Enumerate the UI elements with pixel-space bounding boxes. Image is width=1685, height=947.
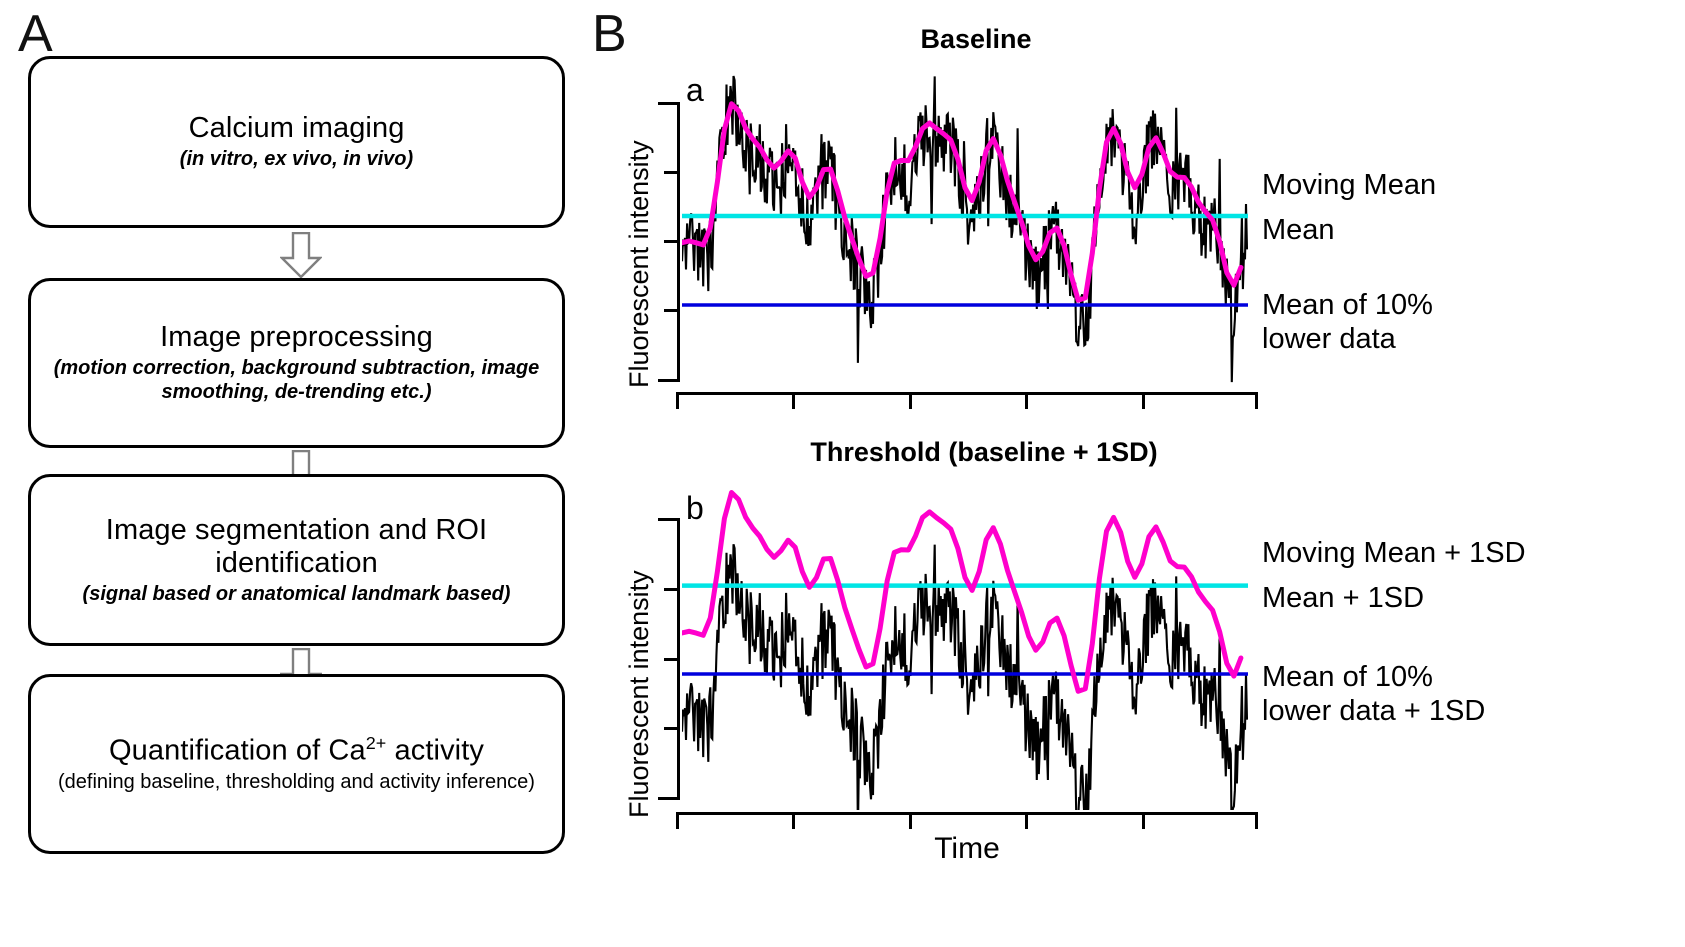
flow-step-image-segmentation-roi[interactable]: Image segmentation and ROI identificatio… bbox=[28, 474, 565, 646]
y-axis-tick bbox=[664, 171, 680, 174]
flow-step-subtitle: (motion correction, background subtracti… bbox=[45, 357, 548, 404]
legend-label-moving-mean-1sd: Moving Mean + 1SD bbox=[1262, 536, 1526, 570]
x-axis-spine bbox=[676, 812, 1258, 815]
y-axis-label: Fluorescent intensity bbox=[624, 140, 655, 388]
flow-step-subtitle: (signal based or anatomical landmark bas… bbox=[83, 583, 511, 607]
y-axis-b bbox=[658, 518, 680, 800]
flow-step-title-superscript: 2+ bbox=[366, 733, 387, 753]
y-axis-label: Fluorescent intensity bbox=[624, 570, 655, 818]
flow-step-quantification-ca-activity[interactable]: Quantification of Ca2+ activity (definin… bbox=[28, 674, 565, 854]
flow-step-subtitle: (in vitro, ex vivo, in vivo) bbox=[180, 148, 413, 172]
y-axis-tick bbox=[664, 658, 680, 661]
flow-step-title: Calcium imaging bbox=[189, 112, 405, 145]
plot-area-threshold bbox=[682, 470, 1248, 810]
y-axis-tick bbox=[658, 102, 680, 105]
flow-step-title: Image segmentation and ROI identificatio… bbox=[45, 514, 548, 580]
flow-step-title-tail: activity bbox=[386, 735, 484, 767]
flow-step-image-preprocessing[interactable]: Image preprocessing (motion correction, … bbox=[28, 278, 565, 448]
legend-label-mean-of-10-percent-lower-data-1sd: Mean of 10% lower data + 1SD bbox=[1262, 660, 1485, 728]
y-axis-a bbox=[658, 102, 680, 382]
x-axis-tick bbox=[909, 392, 912, 409]
y-axis-tick bbox=[664, 727, 680, 730]
flow-step-title: Quantification of Ca2+ activity bbox=[109, 733, 484, 768]
y-axis-tick bbox=[664, 240, 680, 243]
x-axis-label: Time bbox=[676, 832, 1258, 866]
x-axis-tick bbox=[676, 812, 679, 829]
y-axis-tick bbox=[664, 309, 680, 312]
plot-area-baseline bbox=[682, 48, 1248, 384]
flow-step-subtitle: (defining baseline, thresholding and act… bbox=[58, 771, 535, 795]
legend-label-mean-1sd: Mean + 1SD bbox=[1262, 581, 1424, 615]
x-axis-tick bbox=[792, 812, 795, 829]
x-axis-tick bbox=[792, 392, 795, 409]
flow-step-title-main: Quantification of Ca bbox=[109, 735, 366, 767]
x-axis-tick bbox=[909, 812, 912, 829]
x-axis-tick bbox=[1025, 392, 1028, 409]
x-axis-tick bbox=[1142, 812, 1145, 829]
x-axis-spine bbox=[676, 392, 1258, 395]
x-axis-tick bbox=[1255, 812, 1258, 829]
y-axis-tick bbox=[658, 518, 680, 521]
chart-title-threshold: Threshold (baseline + 1SD) bbox=[704, 437, 1264, 468]
x-axis-tick bbox=[676, 392, 679, 409]
x-axis-a bbox=[676, 392, 1258, 414]
legend-label-moving-mean: Moving Mean bbox=[1262, 168, 1436, 202]
flow-step-calcium-imaging[interactable]: Calcium imaging (in vitro, ex vivo, in v… bbox=[28, 56, 565, 228]
legend-label-mean-of-10-percent-lower-data: Mean of 10% lower data bbox=[1262, 288, 1433, 356]
charts-panel-b: Baseline Fluorescent intensity a Moving … bbox=[586, 0, 1685, 947]
y-axis-tick bbox=[658, 797, 680, 800]
flowchart-panel-a: Calcium imaging (in vitro, ex vivo, in v… bbox=[28, 56, 573, 896]
x-axis-tick bbox=[1142, 392, 1145, 409]
y-axis-tick bbox=[658, 379, 680, 382]
x-axis-b bbox=[676, 812, 1258, 834]
down-arrow-icon bbox=[280, 232, 322, 278]
flow-step-title: Image preprocessing bbox=[160, 321, 433, 354]
y-axis-tick bbox=[664, 588, 680, 591]
x-axis-tick bbox=[1255, 392, 1258, 409]
panel-a-letter: A bbox=[18, 8, 53, 60]
legend-label-mean: Mean bbox=[1262, 213, 1335, 247]
x-axis-tick bbox=[1025, 812, 1028, 829]
